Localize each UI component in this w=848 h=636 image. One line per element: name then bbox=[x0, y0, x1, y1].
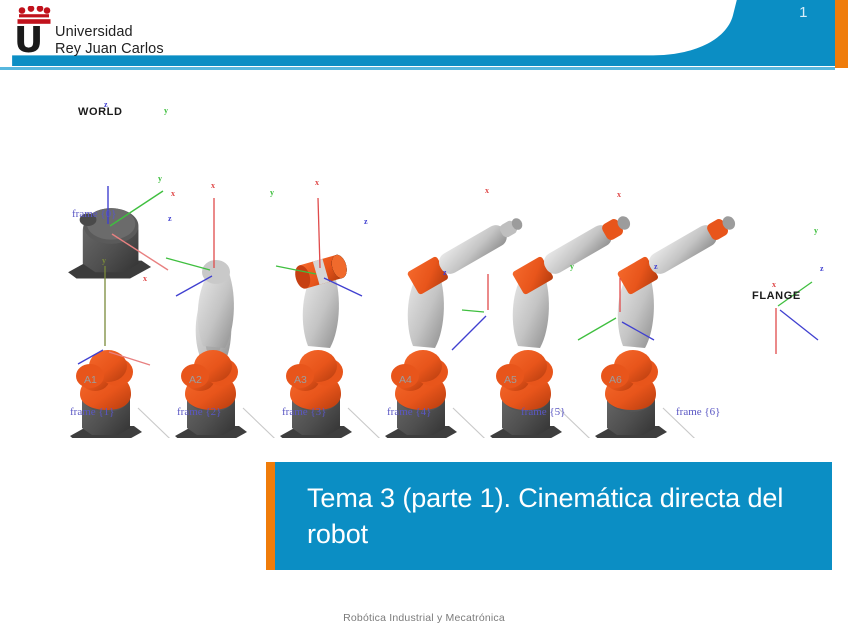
frame-label-4: frame {4} bbox=[387, 406, 431, 418]
urjc-logo: U Universidad Rey Juan Carlos bbox=[14, 6, 264, 58]
frame-label-2: frame {2} bbox=[177, 406, 221, 418]
axes-frame-1 bbox=[78, 266, 150, 365]
slide-footer: Robótica Industrial y Mecatrónica bbox=[0, 612, 848, 624]
page-number: 1 bbox=[799, 4, 808, 21]
title-blue-panel: Tema 3 (parte 1). Cinemática directa del… bbox=[275, 462, 832, 570]
header-underline bbox=[0, 67, 835, 70]
axis-label-z-frame3: z bbox=[364, 217, 368, 226]
robot-diagram-svg bbox=[0, 78, 848, 438]
header-orange-stripe bbox=[835, 0, 848, 68]
robot-pose-a6 bbox=[595, 209, 740, 438]
slide: 1 U Universidad Rey Juan Carlos bbox=[0, 0, 848, 636]
axis-label-z-frame2: z bbox=[168, 214, 172, 223]
joint-label-a3: A3 bbox=[294, 374, 307, 386]
axes-frame-4 bbox=[452, 274, 488, 350]
axis-label-x-frame4: x bbox=[485, 186, 489, 195]
world-label: WORLD bbox=[78, 106, 123, 118]
slide-header: 1 U Universidad Rey Juan Carlos bbox=[0, 0, 848, 70]
robot-frames-figure: z y x y x x y z x y z x z x y z x y z WO… bbox=[0, 78, 848, 438]
axis-label-x-frame1: x bbox=[143, 274, 147, 283]
logo-line-2: Rey Juan Carlos bbox=[55, 41, 164, 58]
axis-label-z-frame5: z bbox=[654, 262, 658, 271]
logo-letter-u: U bbox=[14, 23, 43, 59]
axis-label-z-frame4: z bbox=[443, 268, 447, 277]
title-orange-accent bbox=[266, 462, 275, 570]
frame-label-3: frame {3} bbox=[282, 406, 326, 418]
joint-label-a6: A6 bbox=[609, 374, 622, 386]
axis-label-z-frame6: z bbox=[820, 264, 824, 273]
robot-pose-a1 bbox=[70, 350, 190, 438]
axis-label-y-frame5: y bbox=[570, 262, 574, 271]
joint-label-a1: A1 bbox=[84, 374, 97, 386]
slide-title: Tema 3 (parte 1). Cinemática directa del… bbox=[275, 480, 832, 552]
joint-label-a2: A2 bbox=[189, 374, 202, 386]
joint-label-a4: A4 bbox=[399, 374, 412, 386]
axis-label-y-frame3: y bbox=[270, 188, 274, 197]
axis-label-x-frame2: x bbox=[211, 181, 215, 190]
axis-label-x-frame5: x bbox=[617, 190, 621, 199]
axis-label-y-frame2: y bbox=[158, 174, 162, 183]
axis-label-x-frame3: x bbox=[315, 178, 319, 187]
frame-label-0: frame {0} bbox=[72, 208, 116, 220]
axis-label-x-frame6: x bbox=[772, 280, 776, 289]
frame-label-1: frame {1} bbox=[70, 406, 114, 418]
axis-label-y-frame6: y bbox=[814, 226, 818, 235]
frame-label-5: frame {5} bbox=[521, 406, 565, 418]
frame-label-6: frame {6} bbox=[676, 406, 720, 418]
axis-label-x-frame0: x bbox=[171, 189, 175, 198]
logo-wordmark: Universidad Rey Juan Carlos bbox=[55, 24, 164, 57]
logo-line-1: Universidad bbox=[55, 24, 164, 41]
flange-label: FLANGE bbox=[752, 290, 801, 302]
slide-title-block: Tema 3 (parte 1). Cinemática directa del… bbox=[266, 462, 832, 570]
joint-label-a5: A5 bbox=[504, 374, 517, 386]
axis-label-y-frame0: y bbox=[164, 106, 168, 115]
axis-label-y-frame1: y bbox=[102, 256, 106, 265]
